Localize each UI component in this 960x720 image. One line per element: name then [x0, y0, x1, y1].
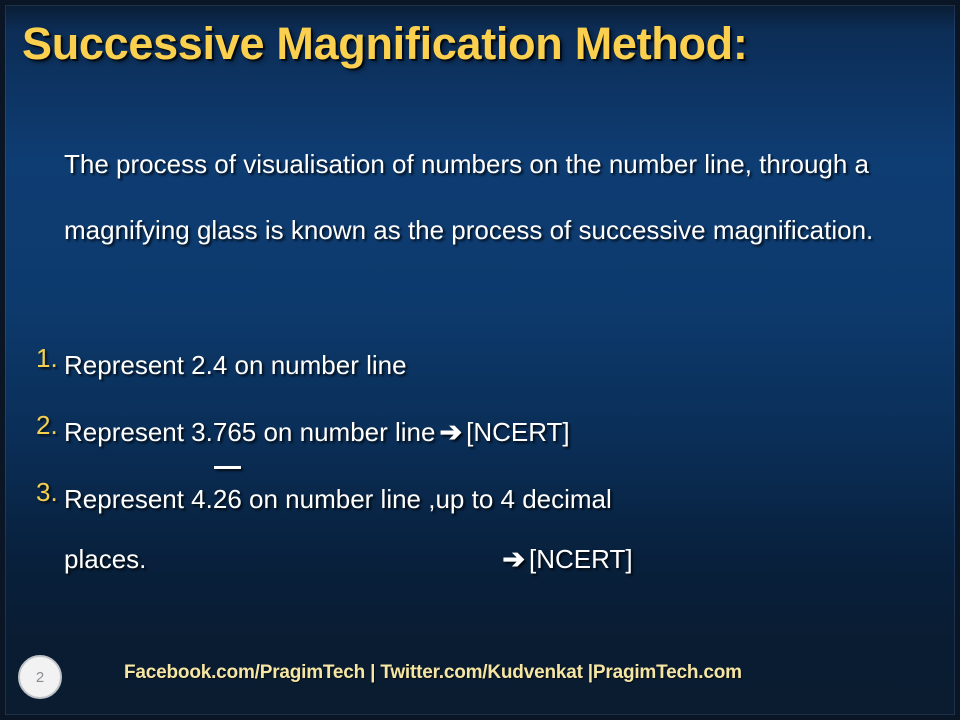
list-item: 1. Represent 2.4 on number line — [36, 343, 936, 387]
continuation-text: places. — [64, 544, 146, 575]
slide: Successive Magnification Method: The pro… — [0, 0, 960, 720]
item-1-text: Represent 2.4 on number line — [64, 350, 407, 380]
list-item-text-2: Represent 3.765 on number line➔[NCERT] — [64, 410, 936, 454]
list-item: 2. Represent 3.765 on number line➔[NCERT… — [36, 410, 936, 454]
arrow-icon: ➔ — [435, 410, 466, 454]
list-item-text-3: Represent 4.26 on number line ,up to 4 d… — [64, 477, 936, 521]
list-item-continuation: places. ➔[NCERT] — [64, 544, 936, 575]
question-list: 1. Represent 2.4 on number line 2. Repre… — [36, 343, 936, 575]
item-2-source: [NCERT] — [466, 417, 570, 447]
list-item: 3. Represent 4.26 on number line ,up to … — [36, 477, 936, 521]
item-3-text-before: Represent 4. — [64, 484, 213, 514]
list-marker-3: 3. — [36, 477, 64, 508]
page-title: Successive Magnification Method: — [22, 18, 942, 70]
arrow-icon: ➔ — [498, 544, 529, 575]
footer-links: Facebook.com/PragimTech | Twitter.com/Ku… — [124, 662, 924, 684]
item-2-text: Represent 3.765 on number line — [64, 417, 435, 447]
item-3-text-after: on number line ,up to 4 decimal — [242, 484, 612, 514]
continuation-source-label: [NCERT] — [529, 544, 633, 574]
list-item-text-1: Represent 2.4 on number line — [64, 343, 936, 387]
repeating-decimal-overline: 26 — [213, 477, 242, 521]
continuation-source: ➔[NCERT] — [498, 544, 632, 575]
slide-number-badge: 2 — [18, 655, 62, 699]
list-marker-2: 2. — [36, 410, 64, 441]
list-marker-1: 1. — [36, 343, 64, 374]
intro-paragraph: The process of visualisation of numbers … — [64, 131, 904, 263]
